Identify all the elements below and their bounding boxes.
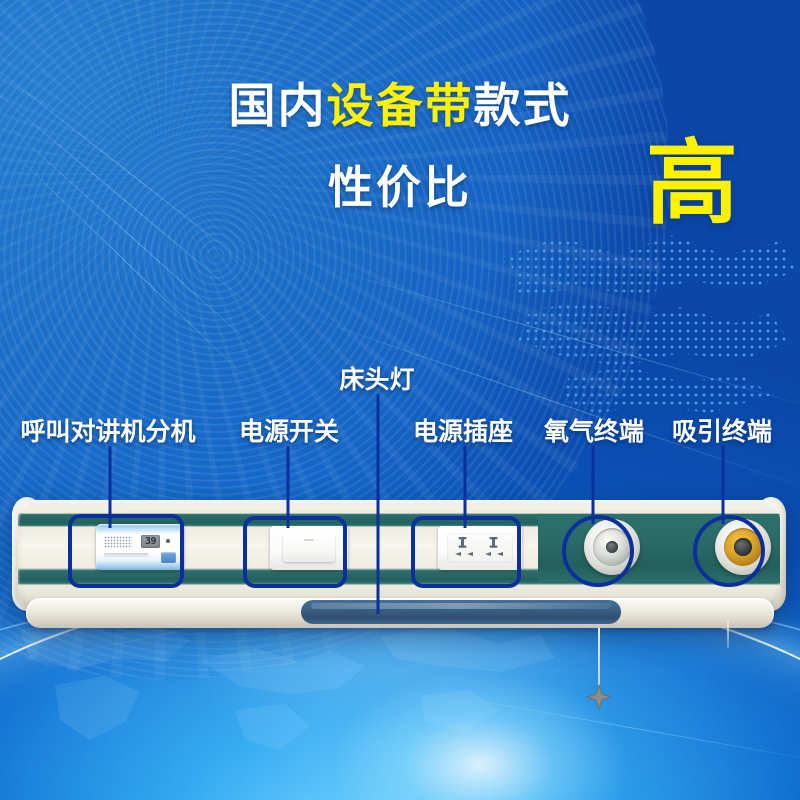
leader-line-power-socket bbox=[464, 446, 467, 528]
callout-label-bed-lamp: 床头灯 bbox=[339, 360, 414, 396]
promo-banner: 国内设备带款式 性价比 高 呼叫对讲机分机 电源开关 床头灯 电源插座 氧气终端… bbox=[0, 0, 800, 800]
callout-label-suction-outlet: 吸引终端 bbox=[672, 412, 772, 448]
leader-line-bed-lamp bbox=[377, 394, 380, 614]
leader-line-power-switch bbox=[287, 446, 290, 528]
callout-label-power-switch: 电源开关 bbox=[239, 412, 339, 448]
callout-group: 呼叫对讲机分机 电源开关 床头灯 电源插座 氧气终端 吸引终端 bbox=[0, 0, 800, 800]
callout-label-intercom: 呼叫对讲机分机 bbox=[20, 412, 195, 448]
leader-line-intercom bbox=[109, 446, 112, 528]
leader-line-oxygen-outlet bbox=[592, 446, 595, 524]
callout-label-oxygen-outlet: 氧气终端 bbox=[544, 412, 644, 448]
callout-label-power-socket: 电源插座 bbox=[413, 412, 513, 448]
leader-line-suction-outlet bbox=[722, 446, 725, 524]
